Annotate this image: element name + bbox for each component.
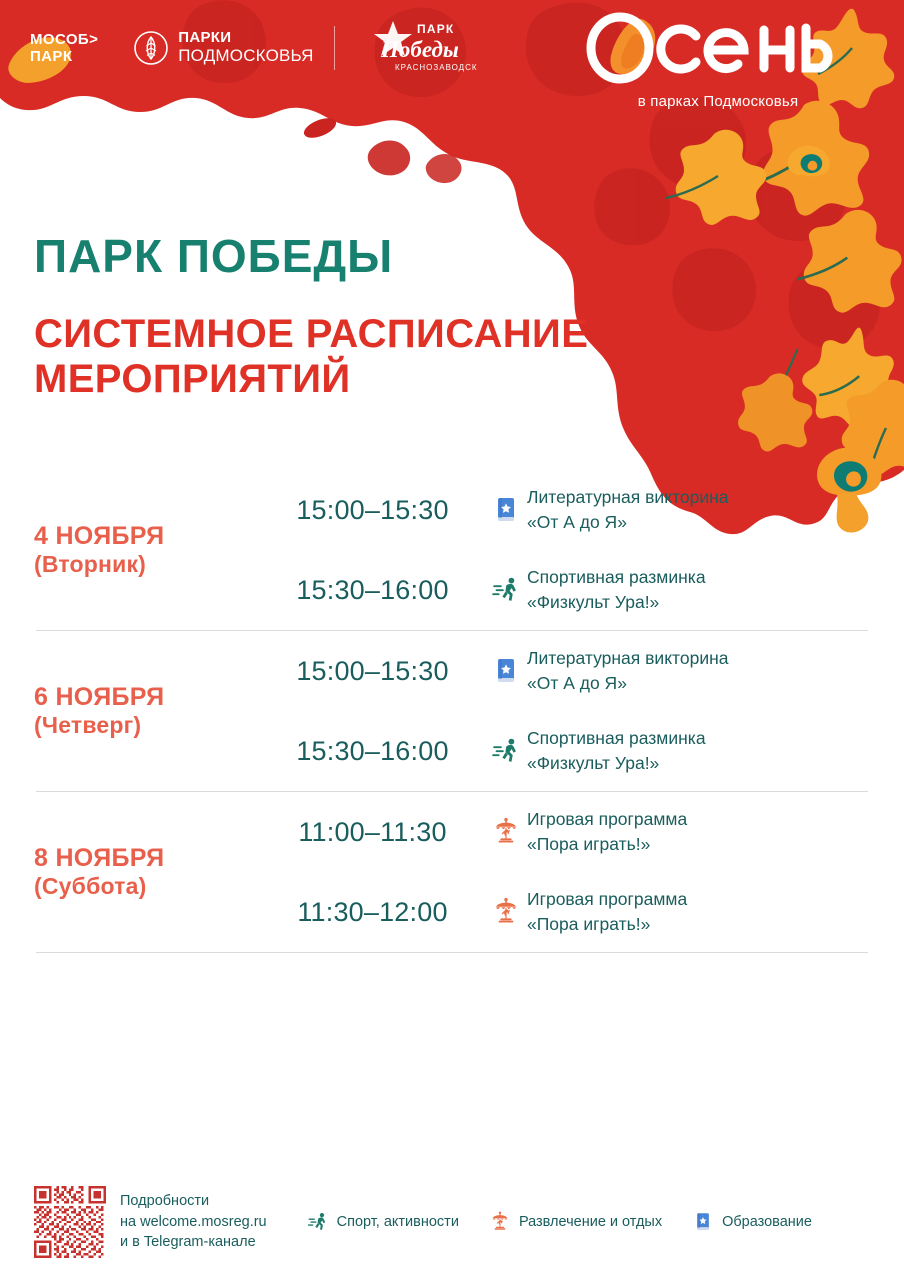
qr-caption-line1: Подробности [120,1191,267,1212]
osen-logo: в парках Подмосковья [584,10,856,111]
parki-podmoskovya-text: ПАРКИ ПОДМОСКОВЬЯ [178,30,313,65]
event-description: Литературная викторина«От А до Я» [527,485,729,536]
day-date: 8 НОЯБРЯ [34,844,260,874]
schedule-day-block: 6 НОЯБРЯ(Четверг)15:00–15:30 Литературна… [0,631,904,791]
event-subtitle: «Пора играть!» [527,832,687,857]
svg-text:ПАРК: ПАРК [417,22,454,36]
schedule-title-line1: СИСТЕМНОЕ РАСПИСАНИЕ [34,312,588,356]
event-row: 11:00–11:30 Игровая программа«Пора играт… [260,792,904,872]
parki-podmoskovya-logo: ПАРКИ ПОДМОСКОВЬЯ [134,30,313,65]
event-description: Игровая программа«Пора играть!» [527,807,687,858]
event-time: 11:00–11:30 [260,817,485,848]
day-weekday: (Суббота) [34,873,260,900]
event-title: Игровая программа [527,807,687,832]
event-description: Литературная викторина«От А до Я» [527,646,729,697]
legend-label: Образование [722,1214,812,1230]
mosobl-park-logo: МОСОБ> ПАРК [30,31,98,66]
event-title: Литературная викторина [527,485,729,510]
parki-line1: ПАРКИ [178,30,313,47]
carousel-icon [491,817,521,847]
leaf-badge-icon [134,31,168,65]
event-subtitle: «Пора играть!» [527,912,687,937]
event-row: 15:30–16:00 Спортивная разминка«Физкульт… [260,711,904,791]
event-category-icon [485,897,527,927]
event-subtitle: «От А до Я» [527,671,729,696]
category-legend: Спорт, активности Развлечение и отдых Об… [307,1211,812,1233]
poster-footer: Подробности на welcome.mosreg.ru и в Tel… [0,1186,904,1258]
event-row: 11:30–12:00 Игровая программа«Пора играт… [260,872,904,952]
mosobl-park-line1: МОСОБ> [30,31,98,48]
page-title: ПАРК ПОБЕДЫ [34,232,588,280]
schedule-title: СИСТЕМНОЕ РАСПИСАНИЕ МЕРОПРИЯТИЙ [34,312,588,402]
event-title: Спортивная разминка [527,565,706,590]
event-title: Спортивная разминка [527,726,706,751]
schedule-day-block: 4 НОЯБРЯ(Вторник)15:00–15:30 Литературна… [0,470,904,630]
event-time: 15:30–16:00 [260,736,485,767]
event-subtitle: «От А до Я» [527,510,729,535]
event-row: 15:00–15:30 Литературная викторина«От А … [260,631,904,711]
event-description: Спортивная разминка«Физкульт Ура!» [527,565,706,616]
qr-block: Подробности на welcome.mosreg.ru и в Tel… [34,1186,267,1258]
mosobl-park-line2: ПАРК [30,48,98,65]
qr-caption-line2: на welcome.mosreg.ru [120,1212,267,1233]
day-label-cell: 4 НОЯБРЯ(Вторник) [0,470,260,630]
event-row: 15:00–15:30 Литературная викторина«От А … [260,470,904,550]
book-icon [491,656,521,686]
schedule-day-block: 8 НОЯБРЯ(Суббота)11:00–11:30 Игровая про… [0,792,904,952]
legend-item: Развлечение и отдых [489,1211,662,1233]
book-icon [491,495,521,525]
event-time: 15:00–15:30 [260,656,485,687]
legend-icon [489,1211,511,1233]
event-subtitle: «Физкульт Ура!» [527,751,706,776]
legend-icon [307,1211,329,1233]
runner-icon [491,736,521,766]
day-events: 15:00–15:30 Литературная викторина«От А … [260,631,904,791]
event-description: Игровая программа«Пора играть!» [527,887,687,938]
event-subtitle: «Физкульт Ура!» [527,590,706,615]
svg-text:Победы: Победы [380,37,459,62]
row-divider [36,952,868,953]
event-category-icon [485,736,527,766]
day-label-cell: 8 НОЯБРЯ(Суббота) [0,792,260,952]
day-date: 6 НОЯБРЯ [34,683,260,713]
day-weekday: (Четверг) [34,712,260,739]
event-category-icon [485,817,527,847]
logo-group: МОСОБ> ПАРК [0,17,481,79]
event-time: 11:30–12:00 [260,897,485,928]
runner-icon [491,575,521,605]
qr-code-icon[interactable] [34,1186,106,1258]
event-title: Игровая программа [527,887,687,912]
event-time: 15:30–16:00 [260,575,485,606]
event-description: Спортивная разминка«Физкульт Ура!» [527,726,706,777]
schedule-title-line2: МЕРОПРИЯТИЙ [34,357,588,402]
titles-block: ПАРК ПОБЕДЫ СИСТЕМНОЕ РАСПИСАНИЕ МЕРОПРИ… [34,232,588,402]
qr-caption-line3: и в Telegram-канале [120,1232,267,1253]
event-category-icon [485,656,527,686]
qr-caption: Подробности на welcome.mosreg.ru и в Tel… [120,1191,267,1253]
event-row: 15:30–16:00 Спортивная разминка«Физкульт… [260,550,904,630]
osen-subtitle: в парках Подмосковья [638,93,803,110]
legend-item: Спорт, активности [307,1211,459,1233]
event-title: Литературная викторина [527,646,729,671]
carousel-icon [489,1211,511,1233]
svg-text:КРАСНОЗАВОДСК: КРАСНОЗАВОДСК [395,63,478,72]
event-category-icon [485,495,527,525]
day-events: 15:00–15:30 Литературная викторина«От А … [260,470,904,630]
event-time: 15:00–15:30 [260,495,485,526]
day-date: 4 НОЯБРЯ [34,522,260,552]
event-category-icon [485,575,527,605]
legend-label: Развлечение и отдых [519,1214,662,1230]
poster-header: МОСОБ> ПАРК [0,0,904,96]
osen-wordmark [584,10,856,93]
poster-root: МОСОБ> ПАРК [0,0,904,1280]
carousel-icon [491,897,521,927]
parki-line2: ПОДМОСКОВЬЯ [178,47,313,66]
legend-icon [692,1211,714,1233]
day-weekday: (Вторник) [34,551,260,578]
legend-item: Образование [692,1211,812,1233]
book-icon [692,1211,714,1233]
park-pobedy-logo: ПАРК Победы КРАСНОЗАВОДСК [373,17,481,79]
schedule-table: 4 НОЯБРЯ(Вторник)15:00–15:30 Литературна… [0,470,904,953]
logo-divider [334,26,335,70]
runner-icon [307,1211,329,1233]
day-events: 11:00–11:30 Игровая программа«Пора играт… [260,792,904,952]
day-label-cell: 6 НОЯБРЯ(Четверг) [0,631,260,791]
legend-label: Спорт, активности [337,1214,459,1230]
